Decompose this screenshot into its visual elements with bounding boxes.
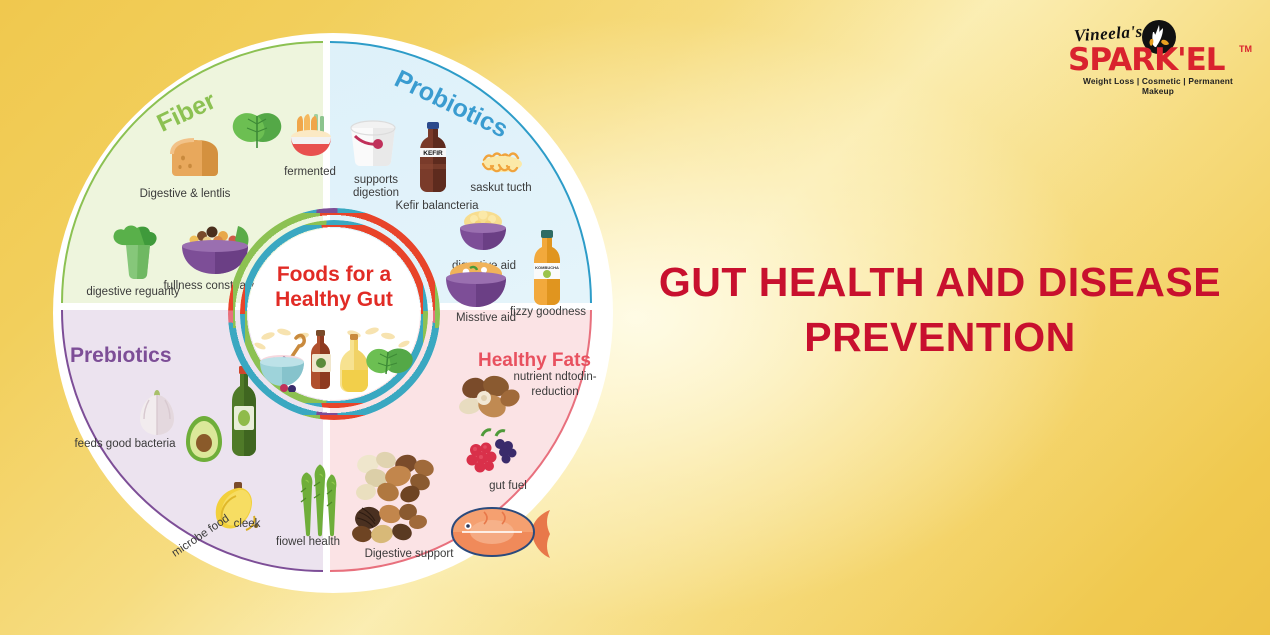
label-fats-berries: gut fuel — [468, 480, 548, 493]
broccoli-icon — [108, 223, 170, 279]
quadrant-heading-prebiotics: Prebiotics — [70, 344, 172, 368]
garlic-icon — [136, 386, 178, 438]
sauerkraut-icon — [478, 146, 526, 180]
brand-logo[interactable]: Vineela's SPARK'EL TM Weight Loss | Cosm… — [1068, 22, 1248, 94]
spinach-icon — [230, 110, 284, 162]
label-probiotics-yogurt: supports digestion — [336, 174, 416, 200]
label-probiotics-sauerkraut: saskut tucth — [446, 182, 556, 195]
gut-health-wheel-infographic: Fiber Digestive & lentlis — [48, 18, 618, 618]
label-fiber-bread: Digestive & lentlis — [110, 188, 260, 201]
berries-fat-icon — [456, 428, 528, 482]
salmon-fish-icon — [446, 504, 554, 560]
center-title-line1: Foods for a — [248, 262, 420, 287]
title-line-1: GUT HEALTH AND DISEASE — [620, 255, 1260, 310]
miso-soup-icon — [440, 254, 512, 310]
svg-text:KOMBUCHA: KOMBUCHA — [535, 265, 559, 270]
center-food-icons — [254, 326, 416, 392]
mixed-nuts-icon — [346, 450, 446, 556]
asparagus-icon — [288, 464, 344, 538]
label-prebiotics-garlic: feeds good bacteria — [70, 438, 180, 451]
quadrant-heading-healthy-fats: Healthy Fats — [478, 350, 591, 372]
rice-bowl-icon — [283, 110, 339, 162]
svg-text:KEFIR: KEFIR — [423, 150, 443, 157]
center-title-line2: Healthy Gut — [248, 287, 420, 312]
kombucha-bottle-icon: KOMBUCHA — [530, 230, 564, 306]
logo-wordmark: SPARK'EL — [1068, 42, 1238, 78]
kefir-bottle-icon: KEFIR — [416, 122, 450, 194]
center-title: Foods for a Healthy Gut — [248, 262, 420, 312]
bread-loaf-icon — [166, 136, 226, 180]
logo-trademark: TM — [1239, 44, 1252, 54]
logo-tagline: Weight Loss | Cosmetic | Permanent Makeu… — [1070, 76, 1246, 96]
almonds-icon — [452, 372, 524, 424]
label-probiotics-kombucha: fizzy goodness — [508, 306, 588, 319]
avocado-icon — [182, 414, 226, 464]
page-title: GUT HEALTH AND DISEASE PREVENTION — [620, 255, 1260, 365]
title-line-2: PREVENTION — [620, 310, 1260, 365]
yogurt-tub-icon — [346, 118, 400, 170]
kimchi-bowl-icon — [452, 206, 514, 254]
